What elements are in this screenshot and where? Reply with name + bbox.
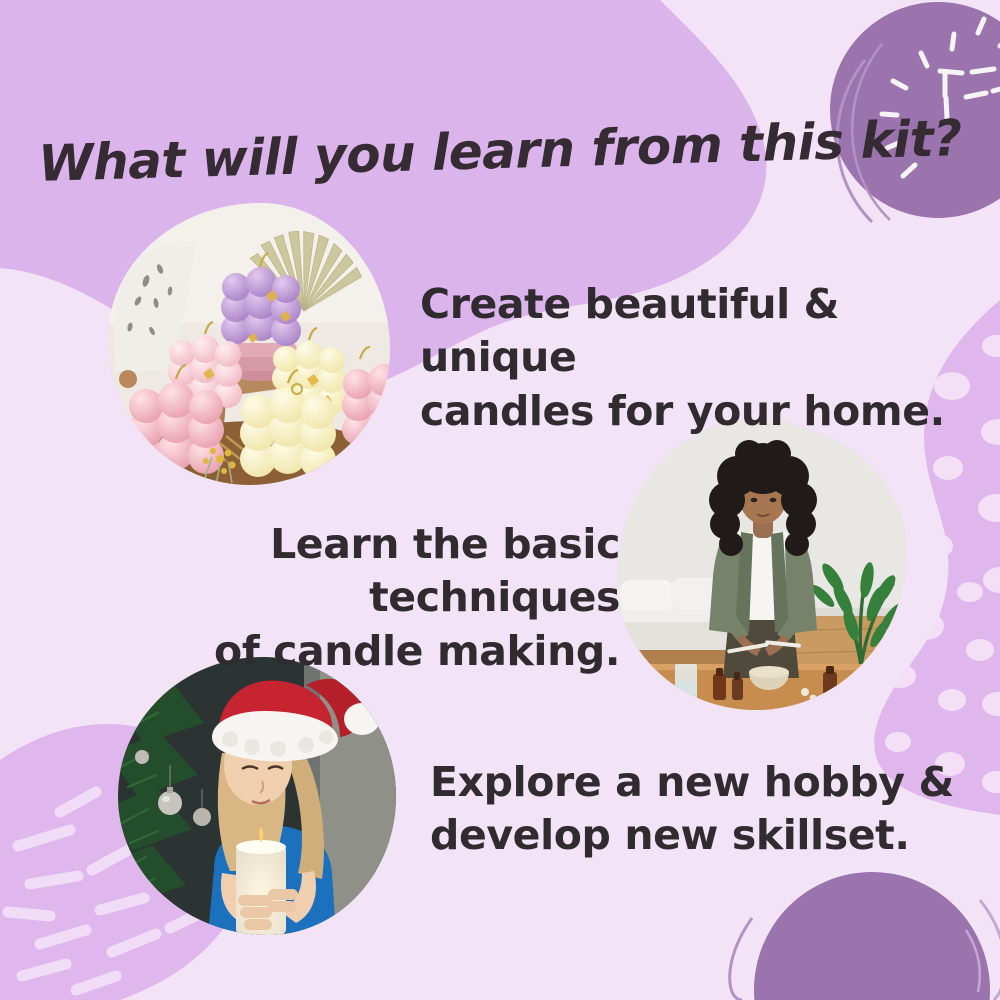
page-title: What will you learn from this kit? — [0, 108, 1000, 194]
benefit-line: Explore a new hobby & — [430, 756, 970, 809]
benefit-text-basic-techniques: Learn the basic techniques of candle mak… — [40, 518, 620, 678]
benefit-text-new-hobby: Explore a new hobby & develop new skills… — [430, 756, 970, 863]
benefit-line: of candle making. — [40, 625, 620, 678]
benefit-line: develop new skillset. — [430, 809, 970, 862]
benefit-line: candles for your home. — [420, 385, 960, 438]
benefit-line: Learn the basic techniques — [40, 518, 620, 625]
benefit-line: Create beautiful & unique — [420, 278, 960, 385]
poster-content: What will you learn from this kit? Creat… — [0, 0, 1000, 1000]
benefit-text-create-candles: Create beautiful & unique candles for yo… — [420, 278, 960, 438]
poster-canvas: What will you learn from this kit? Creat… — [0, 0, 1000, 1000]
